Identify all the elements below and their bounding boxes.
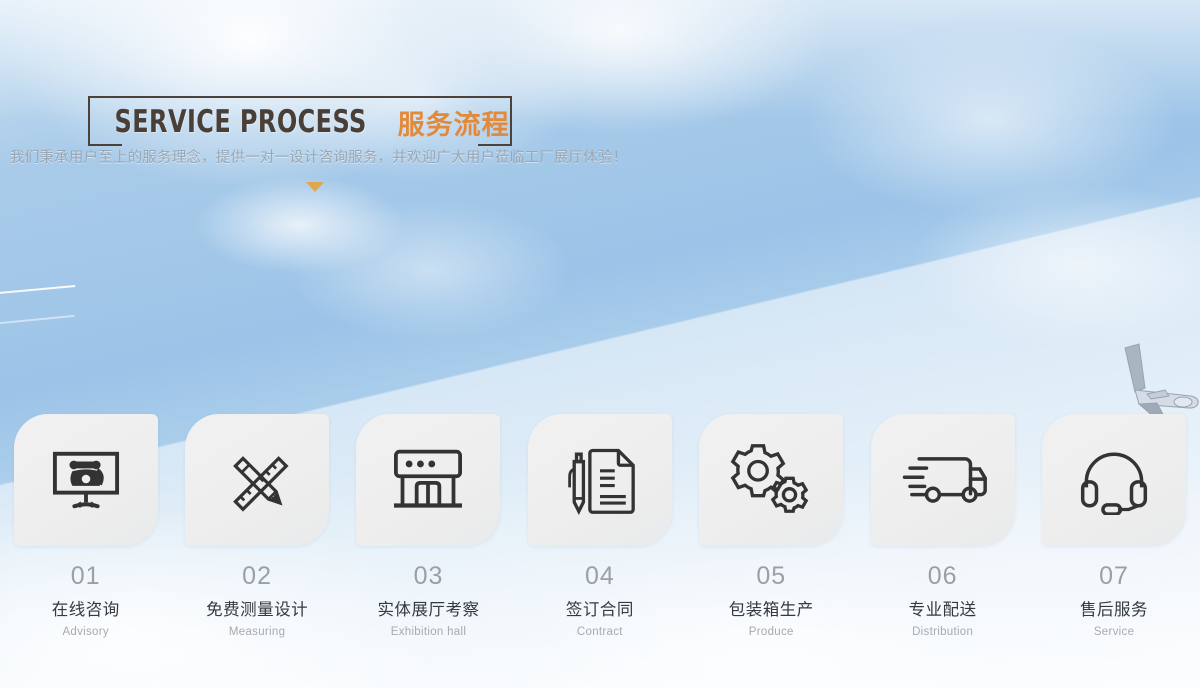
step-item-02[interactable]: 02 免费测量设计 Measuring bbox=[171, 414, 342, 674]
page-subtitle: 我们秉承用户至上的服务理念，提供一对一设计咨询服务，并欢迎广大用户莅临工厂展厅体… bbox=[10, 146, 670, 167]
step-label-en: Advisory bbox=[62, 626, 109, 638]
step-icon-card[interactable] bbox=[1042, 414, 1186, 546]
step-icon-card[interactable] bbox=[356, 414, 500, 546]
step-label-en: Distribution bbox=[912, 626, 973, 638]
ruler-pencil-icon bbox=[221, 444, 293, 516]
step-number: 03 bbox=[414, 562, 444, 591]
step-label-en: Contract bbox=[577, 626, 623, 638]
headset-icon bbox=[1075, 445, 1153, 515]
step-number: 07 bbox=[1099, 562, 1129, 591]
step-label-en: Measuring bbox=[229, 626, 285, 638]
monitor-phone-icon bbox=[47, 446, 125, 514]
step-label-cn: 签订合同 bbox=[566, 596, 634, 620]
page-title-chinese: 服务流程 bbox=[398, 103, 510, 142]
chevron-down-icon bbox=[306, 182, 324, 192]
step-label-cn: 售后服务 bbox=[1080, 596, 1148, 620]
gears-icon bbox=[729, 443, 813, 517]
step-item-04[interactable]: 04 签订合同 Contract bbox=[514, 414, 685, 674]
step-label-cn: 包装箱生产 bbox=[729, 596, 814, 620]
step-number: 02 bbox=[242, 562, 272, 591]
step-item-01[interactable]: 01 在线咨询 Advisory bbox=[0, 414, 171, 674]
step-label-en: Exhibition hall bbox=[391, 626, 466, 638]
service-process-steps: 01 在线咨询 Advisory 02 免费测量设计 Measur bbox=[0, 414, 1200, 674]
step-label-cn: 免费测量设计 bbox=[206, 596, 308, 620]
step-label-en: Produce bbox=[749, 626, 794, 638]
page-title-english: SERVICE PROCESS bbox=[115, 104, 367, 140]
step-icon-card[interactable] bbox=[871, 414, 1015, 546]
step-item-03[interactable]: 03 实体展厅考察 Exhibition hall bbox=[343, 414, 514, 674]
step-number: 05 bbox=[756, 562, 786, 591]
step-item-06[interactable]: 06 专业配送 Distribution bbox=[857, 414, 1028, 674]
step-label-cn: 实体展厅考察 bbox=[377, 596, 479, 620]
step-icon-card[interactable] bbox=[528, 414, 672, 546]
storefront-icon bbox=[388, 446, 468, 514]
step-label-cn: 在线咨询 bbox=[52, 596, 120, 620]
step-icon-card[interactable] bbox=[699, 414, 843, 546]
step-item-05[interactable]: 05 包装箱生产 Produce bbox=[686, 414, 857, 674]
pen-document-icon bbox=[561, 445, 639, 515]
step-number: 06 bbox=[928, 562, 958, 591]
page-title: SERVICE PROCESS 服务流程 bbox=[112, 100, 492, 144]
step-number: 04 bbox=[585, 562, 615, 591]
step-label-en: Service bbox=[1094, 626, 1134, 638]
step-item-07[interactable]: 07 售后服务 Service bbox=[1028, 414, 1199, 674]
delivery-truck-icon bbox=[899, 450, 987, 510]
step-number: 01 bbox=[71, 562, 101, 591]
step-icon-card[interactable] bbox=[185, 414, 329, 546]
step-icon-card[interactable] bbox=[14, 414, 158, 546]
step-label-cn: 专业配送 bbox=[909, 596, 977, 620]
